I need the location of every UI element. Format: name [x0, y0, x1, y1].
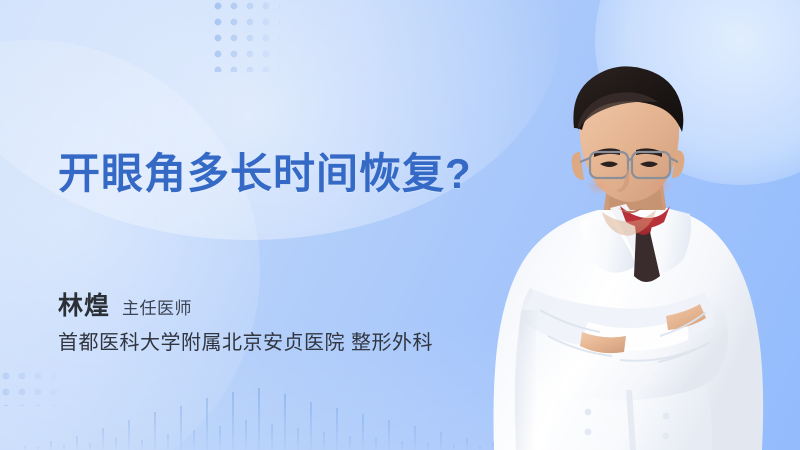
doctor-portrait [470, 60, 800, 450]
promo-card: 开眼角多长时间恢复? 林煌 主任医师 首都医科大学附属北京安贞医院 整形外科 [0, 0, 800, 450]
doctor-byline: 林煌 主任医师 [58, 286, 192, 322]
doctor-affiliation: 首都医科大学附属北京安贞医院 整形外科 [58, 326, 433, 355]
doctor-name: 林煌 [58, 286, 110, 322]
dot-grid-icon-top-right [214, 2, 280, 72]
page-title: 开眼角多长时间恢复? [58, 140, 472, 201]
doctor-title: 主任医师 [122, 294, 192, 319]
